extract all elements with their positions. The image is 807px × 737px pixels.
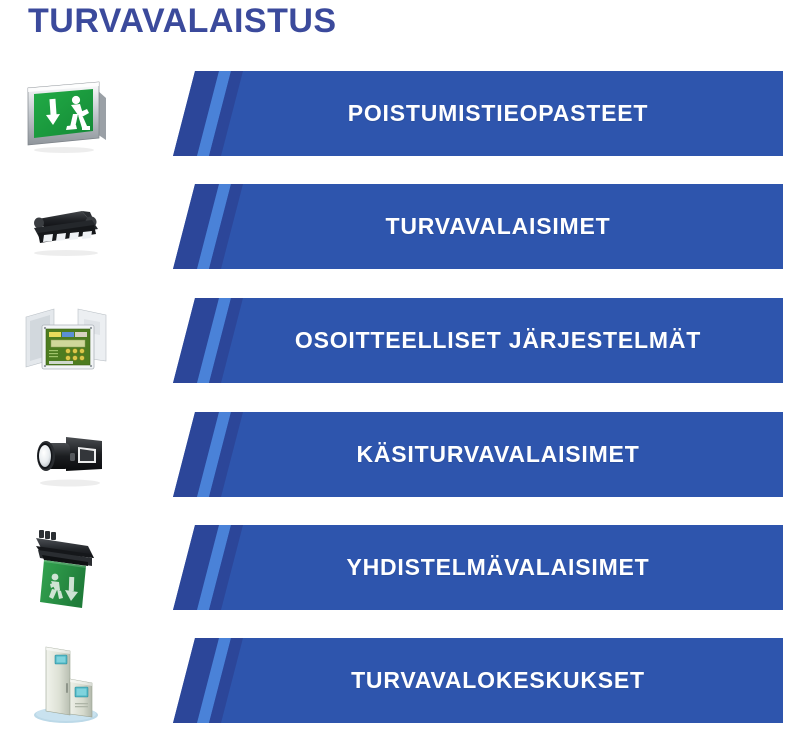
category-row[interactable]: TURVAVALOKESKUKSET bbox=[0, 635, 807, 727]
addressable-control-panel-icon[interactable] bbox=[20, 295, 112, 387]
turvavalaistus-category-page: TURVAVALAISTUS bbox=[0, 0, 807, 737]
category-banner[interactable]: POISTUMISTIEOPASTEET bbox=[173, 71, 783, 156]
exit-sign-luminaire-icon[interactable] bbox=[20, 68, 112, 160]
combination-luminaire-icon[interactable] bbox=[20, 522, 112, 614]
category-label: KÄSITURVAVALAISIMET bbox=[213, 412, 783, 497]
category-label: TURVAVALOKESKUKSET bbox=[213, 638, 783, 723]
category-label: YHDISTELMÄVALAISIMET bbox=[213, 525, 783, 610]
category-row[interactable]: OSOITTEELLISET JÄRJESTELMÄT bbox=[0, 295, 807, 387]
category-row[interactable]: TURVAVALAISIMET bbox=[0, 181, 807, 273]
page-title: TURVAVALAISTUS bbox=[28, 2, 337, 41]
category-banner[interactable]: TURVAVALAISIMET bbox=[173, 184, 783, 269]
category-label: OSOITTEELLISET JÄRJESTELMÄT bbox=[213, 298, 783, 383]
category-row[interactable]: POISTUMISTIEOPASTEET bbox=[0, 68, 807, 160]
handheld-searchlight-icon[interactable] bbox=[20, 409, 112, 501]
category-banner[interactable]: OSOITTEELLISET JÄRJESTELMÄT bbox=[173, 298, 783, 383]
category-banner[interactable]: TURVAVALOKESKUKSET bbox=[173, 638, 783, 723]
category-label: POISTUMISTIEOPASTEET bbox=[213, 71, 783, 156]
category-row[interactable]: YHDISTELMÄVALAISIMET bbox=[0, 522, 807, 614]
emergency-luminaire-icon[interactable] bbox=[20, 181, 112, 273]
category-banner[interactable]: KÄSITURVAVALAISIMET bbox=[173, 412, 783, 497]
category-label: TURVAVALAISIMET bbox=[213, 184, 783, 269]
category-row[interactable]: KÄSITURVAVALAISIMET bbox=[0, 409, 807, 501]
category-banner[interactable]: YHDISTELMÄVALAISIMET bbox=[173, 525, 783, 610]
central-battery-cabinet-icon[interactable] bbox=[20, 635, 112, 727]
